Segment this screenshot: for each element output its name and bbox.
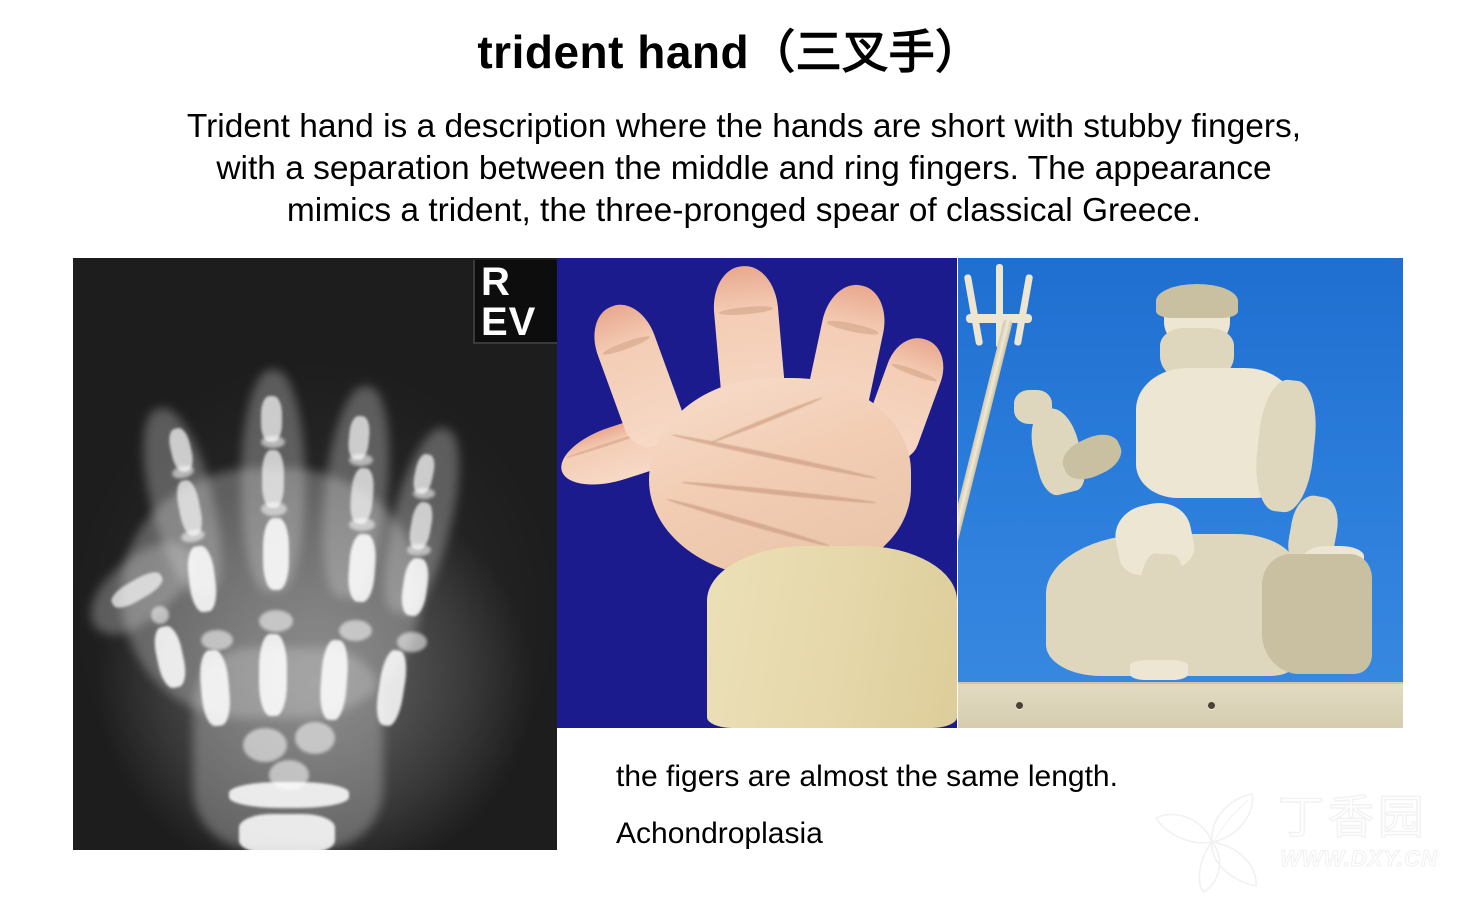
xray-bone (349, 518, 375, 531)
infant-wrist (707, 546, 957, 728)
xray-bone (259, 610, 293, 632)
xray-bone (261, 502, 287, 516)
watermark-url: WWW.DXY.CN (1280, 846, 1438, 872)
description-line-3: mimics a trident, the three-pronged spea… (44, 190, 1444, 232)
xray-bone (201, 630, 233, 650)
radiograph-side-marker: R EV (473, 260, 557, 344)
marker-line-ev: EV (481, 302, 557, 342)
xray-bone (239, 814, 335, 850)
page-title: trident hand（三叉手） (0, 26, 1459, 79)
caption-diagnosis: Achondroplasia (616, 817, 823, 851)
xray-bone (413, 488, 435, 499)
xray-bone (407, 544, 431, 556)
description-line-1: Trident hand is a description where the … (44, 106, 1444, 148)
statue-foot (1130, 660, 1188, 680)
xray-bone (262, 450, 284, 508)
description-paragraph: Trident hand is a description where the … (44, 106, 1444, 232)
statue-hair (1156, 284, 1238, 318)
watermark-brand: 丁香园 (1278, 794, 1428, 840)
xray-bone (295, 722, 335, 754)
xray-bone (229, 782, 349, 808)
poseidon-statue-image (958, 258, 1403, 728)
plinth-bolt (1016, 702, 1023, 709)
hand-radiograph-image: R EV (73, 258, 557, 850)
xray-bone (243, 728, 287, 762)
trident-prong-left (964, 274, 983, 346)
marker-line-r: R (481, 262, 557, 302)
trident-prong-right (1014, 274, 1033, 346)
statue-plinth (958, 682, 1403, 728)
infant-trident-hand-image (557, 258, 957, 728)
trident-crossbar (966, 314, 1032, 323)
xray-bone (349, 454, 373, 466)
description-line-2: with a separation between the middle and… (44, 148, 1444, 190)
watermark: 丁香园 WWW.DXY.CN (1152, 790, 1452, 898)
statue-rock-seat (1262, 554, 1372, 674)
xray-bone (263, 518, 289, 590)
xray-bone (151, 606, 169, 624)
plinth-bolt (1208, 702, 1215, 709)
xray-bone (261, 436, 285, 448)
xray-bone (339, 620, 372, 641)
dxy-leaf-logo-icon (1152, 790, 1272, 894)
xray-bone (259, 634, 287, 716)
caption-finger-length: the figers are almost the same length. (616, 760, 1118, 794)
trident-shaft (958, 319, 1013, 564)
xray-bone (397, 632, 427, 652)
